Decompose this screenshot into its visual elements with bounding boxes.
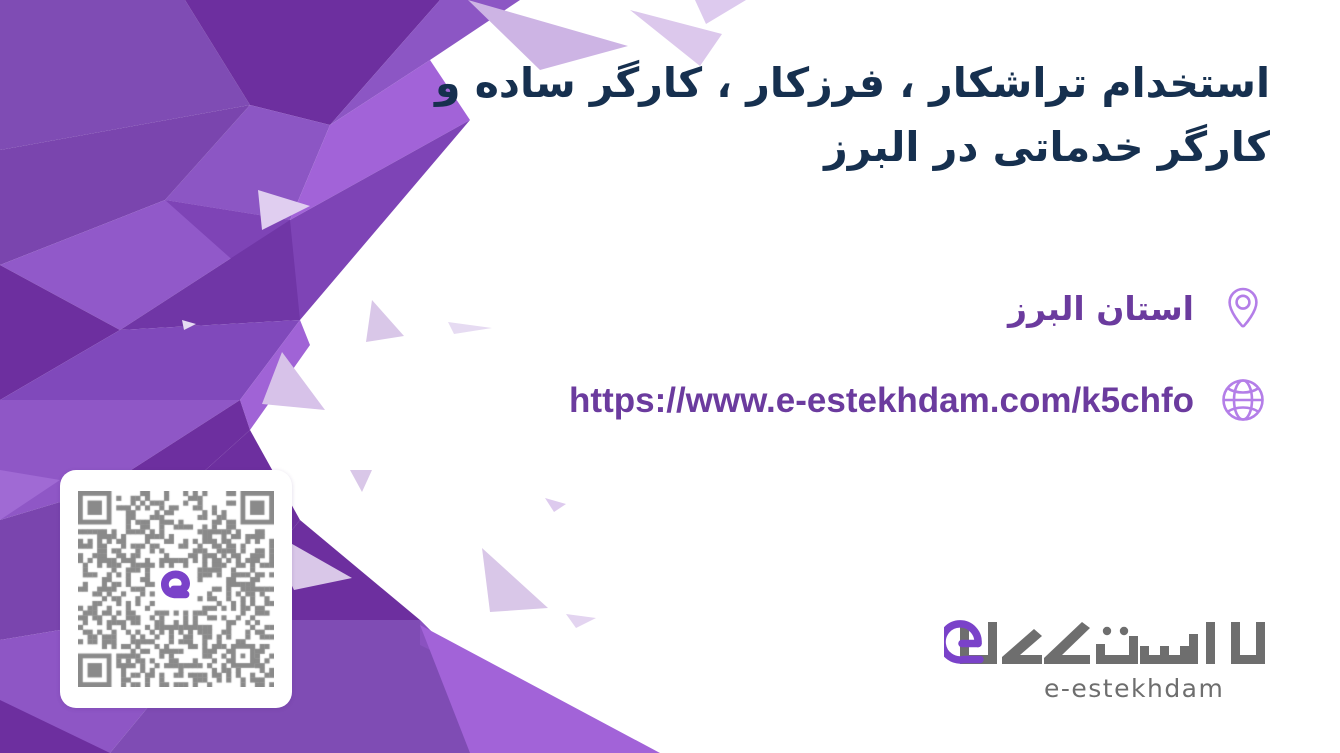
globe-icon xyxy=(1216,373,1270,427)
brand-logo-main xyxy=(944,614,1274,672)
brand-wordmark-fa xyxy=(944,614,1274,672)
map-pin-icon xyxy=(1216,281,1270,335)
page-title: استخدام تراشکار ، فرزکار ، کارگر ساده و … xyxy=(370,52,1270,180)
e-estekhdam-e-mark-icon xyxy=(149,562,203,616)
brand-wordmark-en: e-estekhdam xyxy=(944,674,1274,703)
url-label[interactable]: https://www.e-estekhdam.com/k5chfo xyxy=(569,383,1194,418)
location-row: استان البرز xyxy=(1008,281,1270,335)
location-label: استان البرز xyxy=(1008,292,1194,325)
card-content: استخدام تراشکار ، فرزکار ، کارگر ساده و … xyxy=(0,0,1340,753)
url-row[interactable]: https://www.e-estekhdam.com/k5chfo xyxy=(569,373,1270,427)
job-ad-card: استخدام تراشکار ، فرزکار ، کارگر ساده و … xyxy=(0,0,1340,753)
qr-code-card[interactable] xyxy=(60,470,292,708)
qr-code-inner xyxy=(78,491,274,687)
brand-logo: e-estekhdam xyxy=(944,614,1274,714)
